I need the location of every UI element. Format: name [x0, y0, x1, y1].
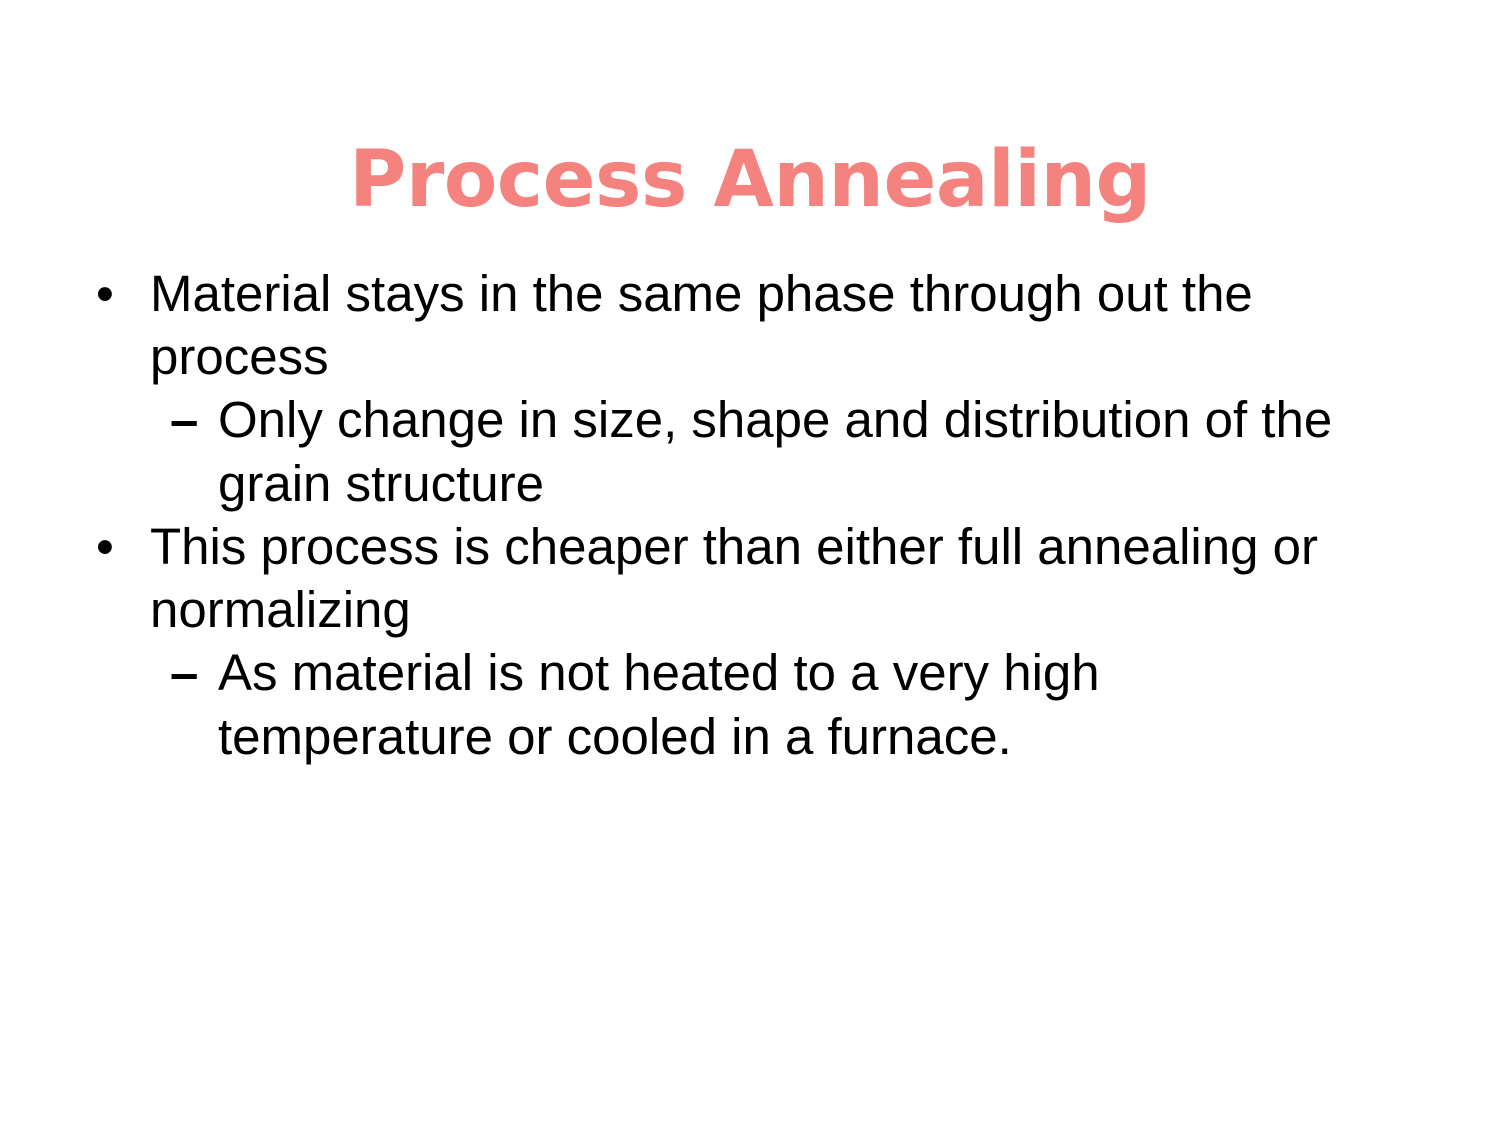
bullet-list-level2: – As material is not heated to a very hi…: [150, 641, 1388, 767]
bullet-list-level1: • Material stays in the same phase throu…: [88, 262, 1388, 768]
slide-body: • Material stays in the same phase throu…: [88, 262, 1388, 768]
list-item: • Material stays in the same phase throu…: [88, 262, 1388, 515]
bullet-list-level2: – Only change in size, shape and distrib…: [150, 388, 1388, 514]
list-item-text: Material stays in the same phase through…: [150, 265, 1253, 385]
slide: Process Annealing • Material stays in th…: [0, 0, 1500, 1125]
page-title: Process Annealing: [0, 140, 1500, 222]
list-item-text: This process is cheaper than either full…: [150, 518, 1318, 638]
list-item: – As material is not heated to a very hi…: [170, 641, 1388, 767]
bullet-marker-icon: •: [96, 262, 114, 325]
list-item-text: As material is not heated to a very high…: [218, 644, 1100, 764]
list-item: • This process is cheaper than either fu…: [88, 515, 1388, 768]
list-item: – Only change in size, shape and distrib…: [170, 388, 1388, 514]
dash-marker-icon: –: [170, 641, 198, 704]
dash-marker-icon: –: [170, 388, 198, 451]
bullet-marker-icon: •: [96, 515, 114, 578]
list-item-text: Only change in size, shape and distribut…: [218, 391, 1332, 511]
